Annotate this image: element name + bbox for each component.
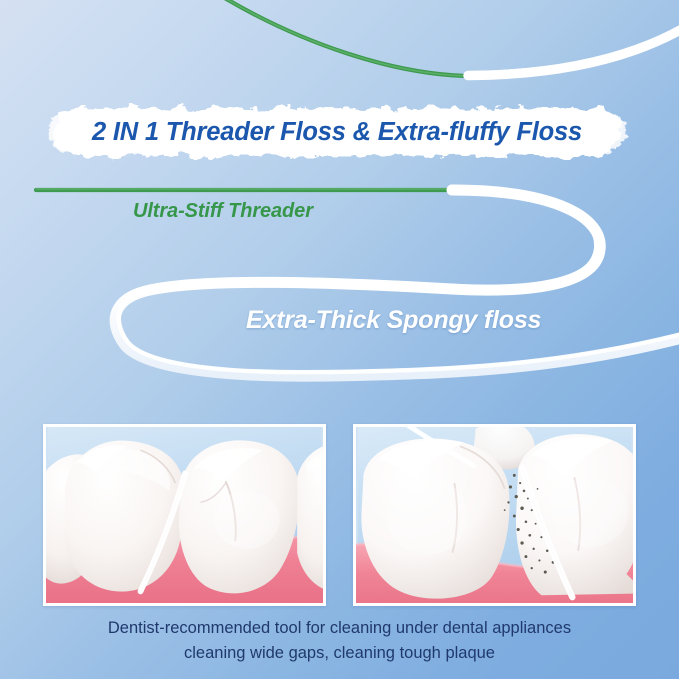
spongy-floss-label: Extra-Thick Spongy floss xyxy=(246,306,541,335)
caption-block: Dentist-recommended tool for cleaning un… xyxy=(0,616,679,666)
product-infographic: 2 IN 1 Threader Floss & Extra-fluffy Flo… xyxy=(0,0,679,679)
photo-panel-row xyxy=(43,424,636,606)
caption-line-1: Dentist-recommended tool for cleaning un… xyxy=(0,616,679,641)
threader-floss-strand xyxy=(36,189,455,190)
top-floss-strand xyxy=(205,0,679,76)
teeth-flossing-illustration xyxy=(46,427,323,603)
photo-panel-floss-between-teeth xyxy=(43,424,326,606)
headline-banner: 2 IN 1 Threader Floss & Extra-fluffy Flo… xyxy=(42,96,632,168)
plaque-removal-illustration xyxy=(356,427,633,603)
threader-label: Ultra-Stiff Threader xyxy=(133,200,313,223)
photo-panel-floss-removing-plaque xyxy=(353,424,636,606)
caption-line-2: cleaning wide gaps, cleaning tough plaqu… xyxy=(0,641,679,666)
page-title: 2 IN 1 Threader Floss & Extra-fluffy Flo… xyxy=(42,96,632,168)
